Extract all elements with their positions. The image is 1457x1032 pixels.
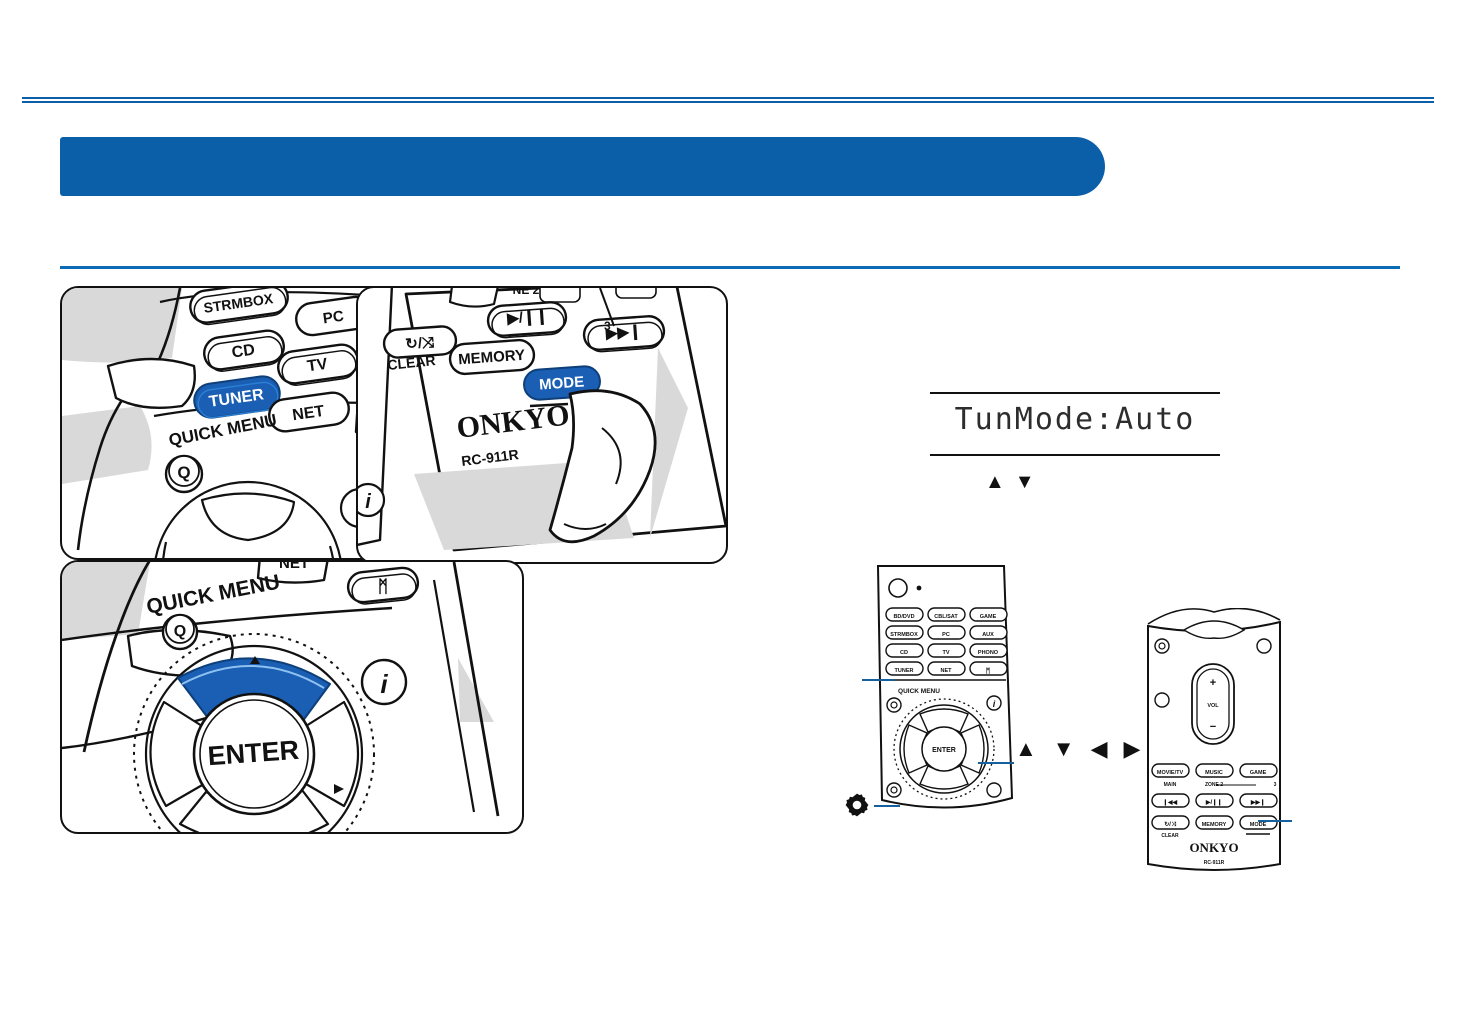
panel3-label-info: i — [380, 669, 388, 699]
panel2-label-ne2: NE 2 — [513, 288, 540, 297]
panel3-label-enter: ENTER — [207, 735, 300, 771]
remote-left-cd: CD — [900, 650, 908, 656]
remote-right-game: GAME — [1250, 770, 1267, 776]
remote-right-prev: ❙◀◀ — [1163, 799, 1178, 806]
remote-left-bd-dvd: BD/DVD — [893, 614, 914, 620]
remote-left-strmbox: STRMBOX — [890, 632, 918, 638]
mode-button-illustration: NE 2 3 CLEAR MEMORY MODE ▶/❙❙ ▶▶❙ ↻/⤨ ON… — [356, 286, 728, 564]
display-down-arrow-icon: ▼ — [1015, 471, 1045, 493]
panel3-label-net: NET — [279, 562, 309, 572]
remote-right-zone2: ZONE 2 — [1205, 782, 1223, 788]
panel3-label-quickmenu: QUICK MENU — [145, 571, 282, 619]
remote-input-and-cursor: BD/DVD CBL/SAT GAME STRMBOX PC AUX CD TV… — [872, 562, 1022, 837]
remote-left-quickmenu-label: QUICK MENU — [898, 688, 940, 695]
remote-right-vol-plus: + — [1210, 677, 1216, 689]
header-rule-lower — [22, 101, 1434, 103]
panel2-label-play: ▶/❙❙ — [506, 308, 549, 328]
remote-right-clear: CLEAR — [1161, 833, 1179, 839]
leader-line-gear — [874, 805, 900, 807]
panel2-label-ff: ▶▶❙ — [604, 323, 642, 343]
cursor-up-illustration: QUICK MENU Q i NET ᛗ ENTER — [60, 560, 524, 834]
mode-illustration-svg: NE 2 3 CLEAR MEMORY MODE ▶/❙❙ ▶▶❙ ↻/⤨ ON… — [358, 288, 726, 562]
remote-right-zone3: 3 — [1274, 782, 1277, 788]
remote-right-vol-label: VOL — [1207, 703, 1219, 709]
panel1-label-pc: PC — [322, 308, 345, 328]
remote-right-movie-tv: MOVIE/TV — [1157, 770, 1184, 776]
leader-line-cursor — [978, 762, 1014, 764]
tuner-illustration-svg: STRMBOX PC CD TV TUNER NET Q i QUICK MEN… — [62, 288, 392, 558]
panel1-label-cd: CD — [231, 342, 256, 362]
remote-left-game: GAME — [980, 614, 997, 620]
remote-right-memory: MEMORY — [1202, 822, 1227, 828]
remote-left-net: NET — [941, 668, 953, 674]
remote-right-next: ▶▶❙ — [1250, 799, 1265, 806]
remote-left-pc: PC — [942, 632, 950, 638]
section-divider-rule — [60, 266, 1400, 269]
arrow-up-icon: ▲ — [1015, 738, 1037, 760]
remote-right-brand: ONKYO — [1189, 840, 1238, 855]
leader-line-tuner — [862, 679, 894, 681]
remote-right-mode: MODE — [1250, 822, 1267, 828]
panel2-label-info: i — [365, 491, 371, 513]
remote-left-aux: AUX — [982, 632, 994, 638]
gear-icon-svg — [844, 792, 870, 818]
receiver-display: TunMode:Auto — [930, 392, 1220, 456]
header-rule-upper — [22, 97, 1434, 99]
display-rule-bottom — [930, 454, 1220, 456]
gear-icon — [844, 792, 870, 818]
display-up-arrow-icon: ▲ — [985, 471, 1015, 493]
panel2-label-repeat: ↻/⤨ — [405, 334, 435, 353]
remote-volume-and-mode: + VOL − MOVIE/TV MUSIC GAME MAIN ZONE 2 … — [1140, 608, 1290, 880]
remote-right-music: MUSIC — [1205, 770, 1223, 776]
panel1-label-q: Q — [177, 463, 190, 482]
display-updown-arrows: ▲▼ — [985, 472, 1045, 492]
display-rule-top — [930, 392, 1220, 394]
tuner-button-illustration: STRMBOX PC CD TV TUNER NET Q i QUICK MEN… — [60, 286, 394, 560]
panel2-label-mode: MODE — [539, 373, 585, 393]
arrow-down-icon: ▼ — [1053, 738, 1075, 760]
remote-left-cbl-sat: CBL/SAT — [934, 614, 958, 620]
remote-left-phono: PHONO — [978, 650, 999, 656]
leader-line-mode — [1258, 820, 1292, 822]
manual-page: STRMBOX PC CD TV TUNER NET Q i QUICK MEN… — [0, 0, 1457, 1032]
remote-right-main: MAIN — [1164, 782, 1177, 788]
remote-left-tv: TV — [942, 650, 949, 656]
remote-right-repeat: ↻/⤨ — [1164, 821, 1176, 828]
remote-left-svg: BD/DVD CBL/SAT GAME STRMBOX PC AUX CD TV… — [872, 562, 1022, 837]
cursor-illustration-svg: QUICK MENU Q i NET ᛗ ENTER — [62, 562, 522, 832]
cursor-direction-arrows: ▲ ▼ ◀ ▶ — [1015, 738, 1140, 760]
remote-left-enter: ENTER — [932, 747, 956, 754]
header-double-rule — [22, 97, 1434, 103]
arrow-right-icon: ▶ — [1123, 738, 1140, 760]
panel1-label-tv: TV — [306, 356, 329, 376]
panel3-label-bluetooth: ᛗ — [378, 577, 388, 596]
page-title-banner — [60, 137, 1105, 196]
arrow-left-icon: ◀ — [1091, 738, 1108, 760]
remote-right-play: ▶/❙❙ — [1205, 799, 1222, 806]
remote-right-vol-minus: − — [1210, 721, 1216, 733]
remote-left-tuner: TUNER — [895, 668, 914, 674]
remote-right-svg: + VOL − MOVIE/TV MUSIC GAME MAIN ZONE 2 … — [1140, 608, 1290, 880]
panel3-label-q: Q — [174, 623, 186, 640]
remote-right-model: RC-911R — [1204, 860, 1225, 866]
remote-left-bluetooth-icon: ᛗ — [986, 667, 990, 675]
display-readout: TunMode:Auto — [930, 402, 1220, 437]
